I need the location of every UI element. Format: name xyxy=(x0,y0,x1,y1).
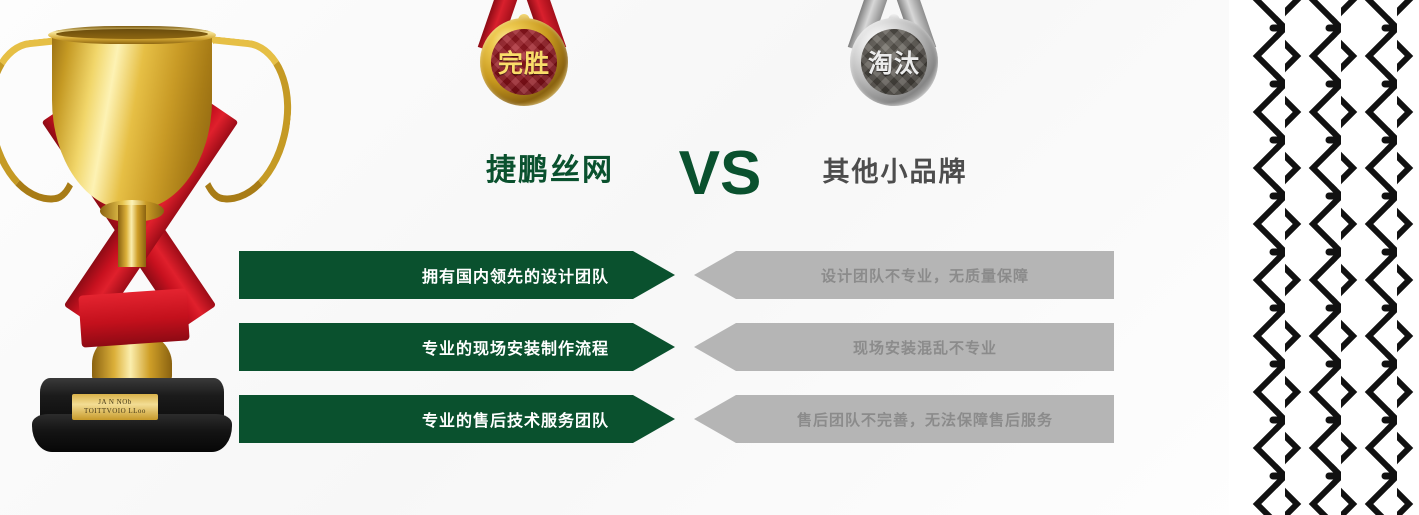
silver-medal-disc: 淘汰 xyxy=(850,18,938,106)
pro-arrow-1: 拥有国内领先的设计团队 xyxy=(239,251,675,299)
comparison-row: 专业的现场安装制作流程 现场安装混乱不专业 xyxy=(239,323,1119,371)
pro-arrow-3: 专业的售后技术服务团队 xyxy=(239,395,675,443)
gold-medal-icon: 完胜 xyxy=(468,0,580,122)
promo-banner: JA N NOb TOITTVOIO LLoo 完胜 淘汰 捷鹏丝网 VS 其他… xyxy=(0,0,1419,515)
rival-name: 其他小品牌 xyxy=(800,148,990,196)
con-arrow-3: 售后团队不完善，无法保障售后服务 xyxy=(694,395,1114,443)
vs-label: VS xyxy=(650,134,790,214)
trophy-stem xyxy=(118,205,146,267)
fence-mesh-svg xyxy=(1229,0,1419,515)
pro-label-2: 专业的现场安装制作流程 xyxy=(422,335,609,359)
con-label-1: 设计团队不专业，无质量保障 xyxy=(821,265,1029,286)
gold-medal-label: 完胜 xyxy=(491,29,557,95)
pro-label-1: 拥有国内领先的设计团队 xyxy=(422,263,609,287)
comparison-list: 拥有国内领先的设计团队 设计团队不专业，无质量保障 专业的现场安装制作流程 现场… xyxy=(239,251,1119,467)
comparison-row: 专业的售后技术服务团队 售后团队不完善，无法保障售后服务 xyxy=(239,395,1119,443)
trophy-plaque-line-1: JA N NOb xyxy=(98,398,132,407)
con-arrow-2: 现场安装混乱不专业 xyxy=(694,323,1114,371)
pro-label-3: 专业的售后技术服务团队 xyxy=(422,407,609,431)
comparison-row: 拥有国内领先的设计团队 设计团队不专业，无质量保障 xyxy=(239,251,1119,299)
pro-arrow-2: 专业的现场安装制作流程 xyxy=(239,323,675,371)
chain-link-fence-image xyxy=(1229,0,1419,515)
silver-medal-label: 淘汰 xyxy=(861,29,927,95)
con-label-3: 售后团队不完善，无法保障售后服务 xyxy=(797,409,1053,430)
gold-medal-disc: 完胜 xyxy=(480,18,568,106)
silver-medal-icon: 淘汰 xyxy=(838,0,950,122)
trophy-ribbon-knot xyxy=(78,288,189,347)
con-label-2: 现场安装混乱不专业 xyxy=(853,337,997,358)
trophy-plaque: JA N NOb TOITTVOIO LLoo xyxy=(72,394,158,420)
trophy-rim-inner xyxy=(56,29,208,39)
brand-name: 捷鹏丝网 xyxy=(460,146,640,196)
con-arrow-1: 设计团队不专业，无质量保障 xyxy=(694,251,1114,299)
trophy-plaque-line-2: TOITTVOIO LLoo xyxy=(84,407,146,416)
